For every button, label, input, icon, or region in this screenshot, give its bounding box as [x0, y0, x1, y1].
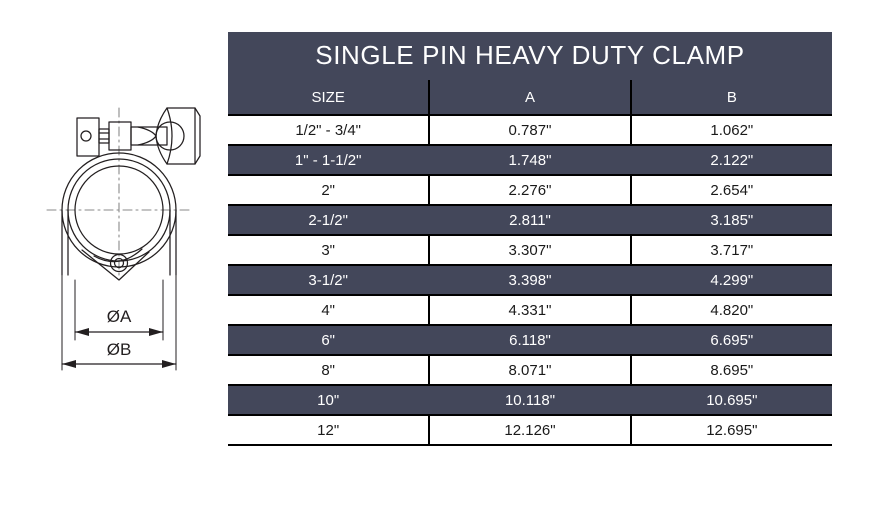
cell-size: 8" — [228, 355, 429, 385]
table-body: 1/2" - 3/4" 0.787" 1.062" 1" - 1-1/2" 1.… — [228, 115, 832, 445]
cell-a: 3.307" — [429, 235, 630, 265]
cell-size: 3-1/2" — [228, 265, 429, 295]
table-row: 10" 10.118" 10.695" — [228, 385, 832, 415]
cell-b: 2.122" — [631, 145, 832, 175]
clamp-bolt-shank — [99, 122, 167, 150]
clamp-spec-table: SINGLE PIN HEAVY DUTY CLAMP SIZE A B 1/2… — [228, 32, 832, 446]
cell-a: 8.071" — [429, 355, 630, 385]
cell-b: 4.299" — [631, 265, 832, 295]
table-title-row: SINGLE PIN HEAVY DUTY CLAMP — [228, 32, 832, 79]
cell-a: 2.276" — [429, 175, 630, 205]
cell-b: 10.695" — [631, 385, 832, 415]
table-row: 4" 4.331" 4.820" — [228, 295, 832, 325]
table-row: 2-1/2" 2.811" 3.185" — [228, 205, 832, 235]
single-pin-heavy-duty-clamp-diagram: ØA ØB — [20, 100, 220, 400]
cell-b: 8.695" — [631, 355, 832, 385]
clamp-drawing-panel: ØA ØB — [0, 0, 228, 511]
dimension-label-inner-a: ØA — [107, 307, 132, 326]
cell-a: 0.787" — [429, 115, 630, 145]
cell-a: 3.398" — [429, 265, 630, 295]
clamp-wing-nut-handle — [138, 108, 200, 164]
column-header-a: A — [429, 79, 630, 115]
cell-size: 2" — [228, 175, 429, 205]
cell-b: 3.185" — [631, 205, 832, 235]
table-row: 12" 12.126" 12.695" — [228, 415, 832, 445]
cell-b: 2.654" — [631, 175, 832, 205]
column-header-b: B — [631, 79, 832, 115]
cell-a: 6.118" — [429, 325, 630, 355]
table-row: 3-1/2" 3.398" 4.299" — [228, 265, 832, 295]
cell-size: 4" — [228, 295, 429, 325]
table-row: 6" 6.118" 6.695" — [228, 325, 832, 355]
cell-size: 12" — [228, 415, 429, 445]
cell-b: 12.695" — [631, 415, 832, 445]
table-row: 1" - 1-1/2" 1.748" 2.122" — [228, 145, 832, 175]
cell-size: 1/2" - 3/4" — [228, 115, 429, 145]
table-row: 1/2" - 3/4" 0.787" 1.062" — [228, 115, 832, 145]
table-row: 3" 3.307" 3.717" — [228, 235, 832, 265]
cell-a: 4.331" — [429, 295, 630, 325]
dimension-arrow-outer-b — [62, 360, 176, 368]
dimension-label-outer-b: ØB — [107, 340, 132, 359]
cell-a: 12.126" — [429, 415, 630, 445]
cell-a: 1.748" — [429, 145, 630, 175]
cell-size: 3" — [228, 235, 429, 265]
cell-size: 10" — [228, 385, 429, 415]
cell-size: 2-1/2" — [228, 205, 429, 235]
cell-a: 2.811" — [429, 205, 630, 235]
dimension-arrow-inner-a — [75, 328, 163, 336]
cell-b: 4.820" — [631, 295, 832, 325]
cell-b: 6.695" — [631, 325, 832, 355]
cell-size: 6" — [228, 325, 429, 355]
cell-a: 10.118" — [429, 385, 630, 415]
cell-b: 3.717" — [631, 235, 832, 265]
cell-size: 1" - 1-1/2" — [228, 145, 429, 175]
table-title: SINGLE PIN HEAVY DUTY CLAMP — [228, 32, 832, 79]
table-row: 2" 2.276" 2.654" — [228, 175, 832, 205]
column-header-size: SIZE — [228, 79, 429, 115]
cell-b: 1.062" — [631, 115, 832, 145]
table-column-header-row: SIZE A B — [228, 79, 832, 115]
clamp-left-ear-lug — [77, 118, 99, 156]
table-row: 8" 8.071" 8.695" — [228, 355, 832, 385]
